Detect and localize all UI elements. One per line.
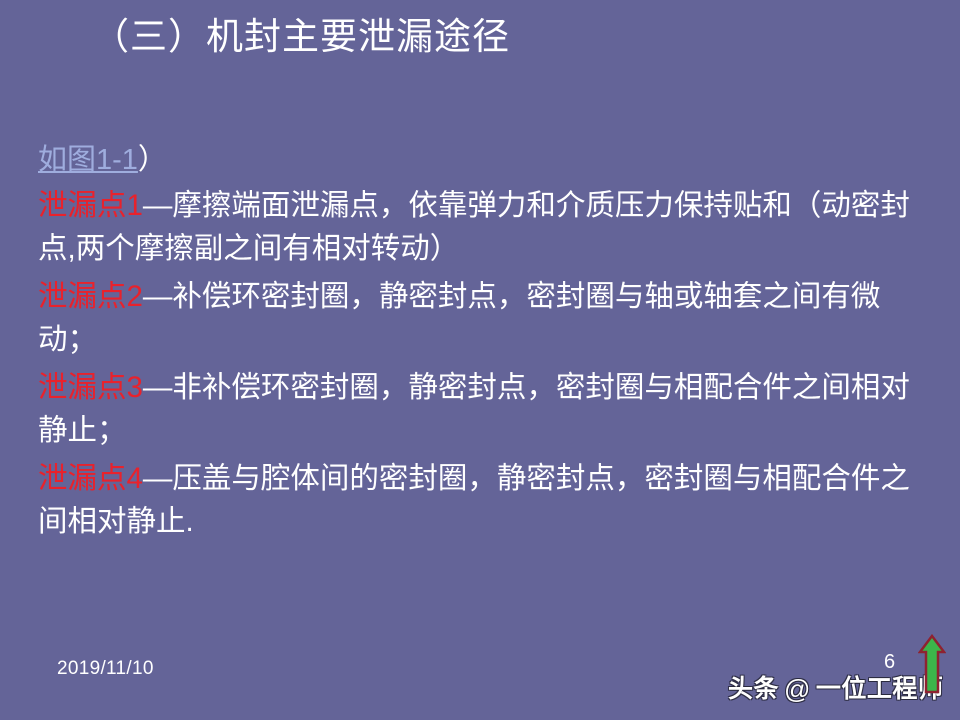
slide-date: 2019/11/10 (57, 657, 154, 681)
watermark-at-symbol: @ (783, 672, 812, 706)
leak-point-text-2: —补偿环密封圈，静密封点，密封圈与轴或轴套之间有微动； (38, 280, 880, 356)
leak-point-paragraph-4: 泄漏点4—压盖与腔体间的密封圈，静密封点，密封圈与相配合件之间相对静止. (38, 457, 918, 543)
slide-body: 如图1-1） 泄漏点1—摩擦端面泄漏点，依靠弹力和介质压力保持贴和（动密封点,两… (38, 140, 918, 548)
leak-point-text-1: —摩擦端面泄漏点，依靠弹力和介质压力保持贴和（动密封点,两个摩擦副之间有相对转动… (38, 189, 910, 265)
watermark-platform: 头条 (728, 672, 779, 706)
up-arrow-icon (918, 634, 946, 696)
leak-point-text-3: —非补偿环密封圈，静密封点，密封圈与相配合件之间相对静止； (38, 371, 910, 447)
presentation-slide: （三）机封主要泄漏途径 如图1-1） 泄漏点1—摩擦端面泄漏点，依靠弹力和介质压… (0, 0, 960, 720)
leak-point-paragraph-3: 泄漏点3—非补偿环密封圈，静密封点，密封圈与相配合件之间相对静止； (38, 366, 918, 452)
leak-point-paragraph-1: 泄漏点1—摩擦端面泄漏点，依靠弹力和介质压力保持贴和（动密封点,两个摩擦副之间有… (38, 184, 918, 270)
figure-reference-line: 如图1-1） (38, 140, 918, 180)
figure-link-trailing: ） (138, 144, 167, 176)
page-number: 6 (884, 650, 895, 674)
leak-point-label-1: 泄漏点1 (38, 189, 143, 222)
leak-point-label-2: 泄漏点2 (38, 280, 143, 313)
leak-point-paragraph-2: 泄漏点2—补偿环密封圈，静密封点，密封圈与轴或轴套之间有微动； (38, 275, 918, 361)
watermark: 头条 @ 一位工程师 (728, 672, 943, 706)
leak-point-text-4: —压盖与腔体间的密封圈，静密封点，密封圈与相配合件之间相对静止. (38, 462, 910, 538)
leak-point-label-3: 泄漏点3 (38, 371, 143, 404)
figure-link[interactable]: 如图1-1 (38, 144, 138, 176)
leak-point-label-4: 泄漏点4 (38, 462, 143, 495)
page-title: （三）机封主要泄漏途径 (92, 14, 912, 62)
